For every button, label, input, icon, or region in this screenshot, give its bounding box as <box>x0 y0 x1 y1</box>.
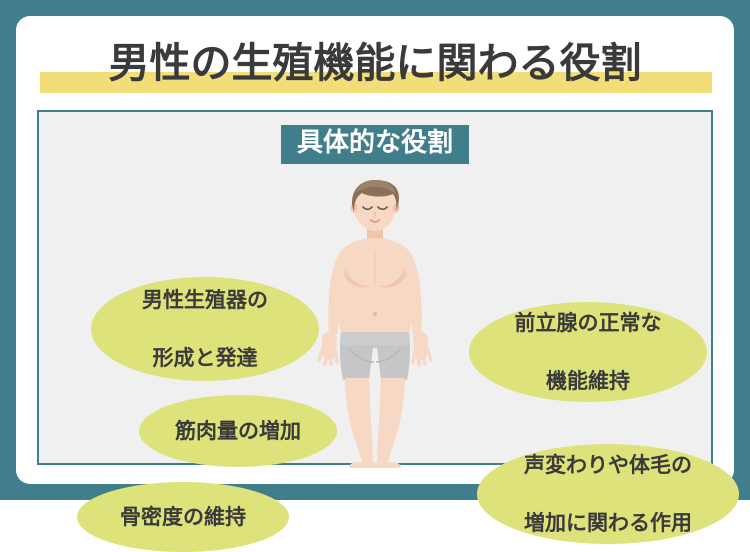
bubble-line: 男性生殖器の <box>136 286 274 315</box>
bubble-line: 形成と発達 <box>136 344 274 373</box>
bubble-line: 骨密度の維持 <box>114 503 252 532</box>
page-title: 男性の生殖機能に関わる役割 <box>16 32 734 94</box>
bubble-muscle-mass: 筋肉量の増加 <box>139 395 337 467</box>
roles-panel: 具体的な役割 <box>37 110 713 465</box>
bubble-line: 筋肉量の増加 <box>169 417 307 446</box>
content-card: 男性の生殖機能に関わる役割 具体的な役割 <box>16 16 734 484</box>
bubble-line: 増加に関わる作用 <box>518 509 698 538</box>
bubble-line: 前立腺の正常な <box>509 309 668 338</box>
bubble-bone-density: 骨密度の維持 <box>77 482 289 552</box>
infographic-root: 男性の生殖機能に関わる役割 具体的な役割 <box>0 0 750 500</box>
bubble-voice-body-hair: 声変わりや体毛の 増加に関わる作用 <box>477 444 739 544</box>
bubble-line: 機能維持 <box>509 367 668 396</box>
bubble-line: 声変わりや体毛の <box>518 451 698 480</box>
bubble-male-reproductive-organ: 男性生殖器の 形成と発達 <box>91 277 319 381</box>
section-badge: 具体的な役割 <box>281 125 469 164</box>
bubble-prostate-function: 前立腺の正常な 機能維持 <box>469 302 707 402</box>
header: 男性の生殖機能に関わる役割 <box>16 32 734 112</box>
